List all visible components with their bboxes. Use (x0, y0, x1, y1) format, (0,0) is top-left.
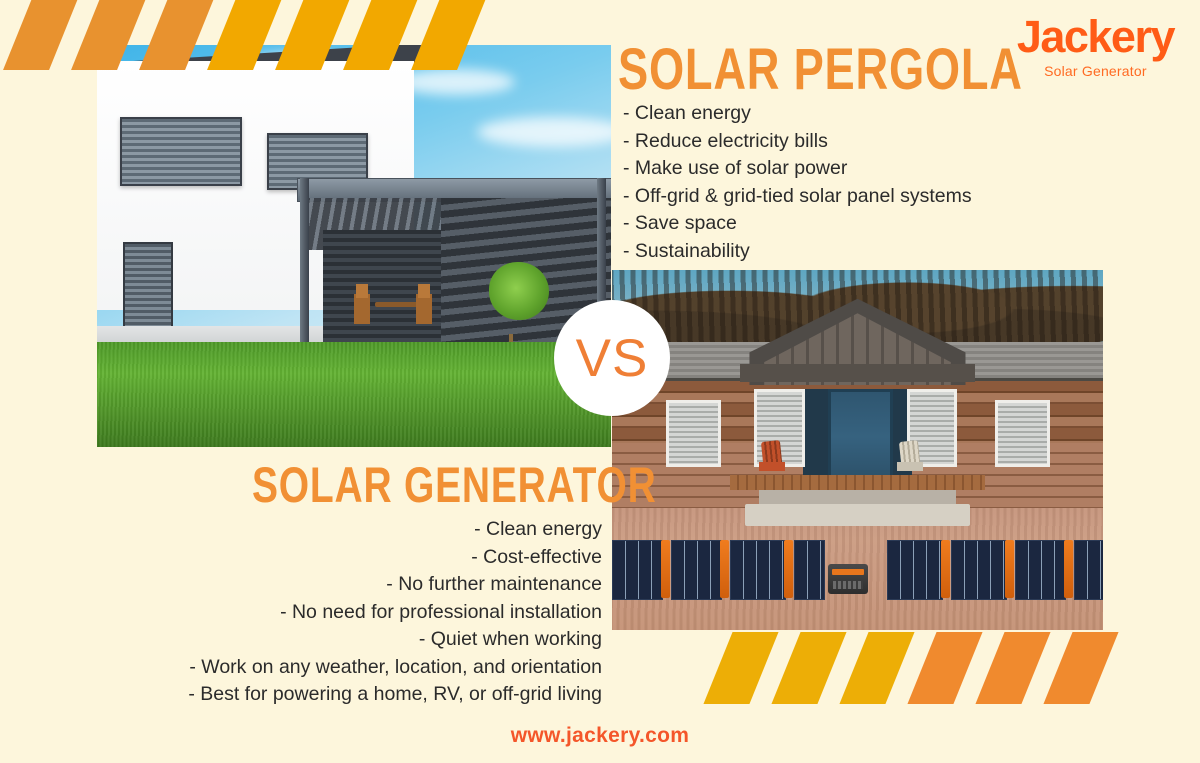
solar-panel (612, 540, 663, 600)
chair-seat (897, 462, 923, 471)
pergola-scene (97, 45, 611, 447)
panel-hinge (784, 540, 793, 598)
logo-brand-text: Jackery (1017, 14, 1174, 59)
decorative-stripes-top (18, 0, 578, 70)
patio-chair (416, 294, 432, 324)
lawn (97, 342, 611, 447)
solar-panel (1074, 540, 1103, 600)
list-item: - Clean energy (623, 100, 972, 128)
list-item: - Cost-effective (178, 544, 602, 572)
pergola-post (300, 178, 309, 355)
stripe-bar (907, 632, 982, 704)
panel-hinge (661, 540, 670, 598)
list-item: - Off-grid & grid-tied solar panel syste… (623, 183, 972, 211)
list-item: - Quiet when working (178, 626, 602, 654)
stripe-bar (3, 0, 79, 70)
list-item: - No further maintenance (178, 571, 602, 599)
stripe-bar (703, 632, 778, 704)
window (120, 117, 242, 185)
list-item: - Sustainability (623, 238, 972, 266)
vs-label: VS (576, 332, 649, 385)
list-item: - Make use of solar power (623, 155, 972, 183)
stripe-bar (71, 0, 147, 70)
stripe-bar (839, 632, 914, 704)
page-title-solar-generator: SOLAR GENERATOR (252, 456, 657, 514)
solar-panel (1015, 540, 1066, 600)
pergola-benefits-list: - Clean energy - Reduce electricity bill… (623, 100, 972, 265)
list-item: - Reduce electricity bills (623, 128, 972, 156)
stripe-bar (207, 0, 283, 70)
concrete-pad (745, 504, 971, 526)
porch-roof-beam (740, 364, 976, 382)
logo-tagline: Solar Generator (1017, 63, 1174, 79)
footer-website-url[interactable]: www.jackery.com (0, 724, 1200, 748)
stripe-bar (771, 632, 846, 704)
window (666, 400, 721, 467)
solar-panel (794, 540, 825, 600)
stripe-bar (975, 632, 1050, 704)
chair-back (899, 440, 920, 464)
panel-hinge (720, 540, 729, 598)
solar-panel (671, 540, 722, 600)
cabin-scene (612, 270, 1103, 630)
solar-panel (951, 540, 1007, 600)
stripe-bar (139, 0, 215, 70)
porch-deck (730, 475, 985, 489)
panel-hinge (1064, 540, 1073, 598)
window (995, 400, 1050, 467)
small-tree (489, 262, 549, 320)
list-item: - Clean energy (178, 516, 602, 544)
patio-chair (354, 294, 370, 324)
vs-badge: VS (554, 300, 670, 416)
adirondack-chair (897, 443, 923, 471)
stripe-bar (1043, 632, 1118, 704)
portable-power-station (828, 564, 868, 594)
front-door (828, 389, 893, 485)
jackery-logo: Jackery Solar Generator (1017, 14, 1174, 79)
list-item: - Work on any weather, location, and ori… (178, 654, 602, 682)
solar-panel (887, 540, 943, 600)
door-sidelight (803, 389, 828, 479)
solar-panel (730, 540, 786, 600)
infographic-canvas: VS Jackery Solar Generator SOLAR PERGOLA… (0, 0, 1200, 763)
list-item: - Save space (623, 210, 972, 238)
panel-hinge (941, 540, 950, 598)
photo-solar-pergola (97, 45, 611, 447)
decorative-stripes-bottom (718, 632, 1188, 704)
stripe-bar (411, 0, 487, 70)
chair-back (761, 440, 782, 464)
list-item: - Best for powering a home, RV, or off-g… (178, 681, 602, 709)
chair-seat (759, 462, 785, 471)
generator-benefits-list: - Clean energy - Cost-effective - No fur… (178, 516, 602, 709)
list-item: - No need for professional installation (178, 599, 602, 627)
stripe-bar (275, 0, 351, 70)
adirondack-chair (759, 443, 785, 471)
panel-hinge (1005, 540, 1014, 598)
page-title-solar-pergola: SOLAR PERGOLA (618, 36, 1023, 103)
stripe-bar (343, 0, 419, 70)
photo-solar-generator (612, 270, 1103, 630)
